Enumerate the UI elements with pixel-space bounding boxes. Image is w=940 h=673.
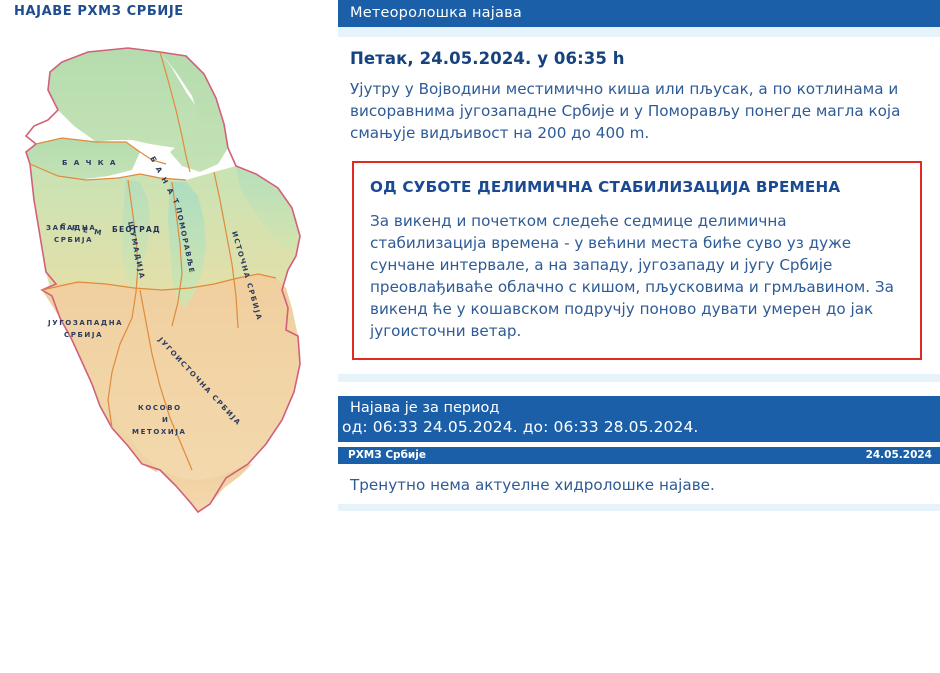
hydrology-status-text: Тренутно нема актуелне хидролошке најаве…	[338, 464, 940, 504]
page-title: НАЈАВЕ РХМЗ СРБИЈЕ	[14, 4, 184, 19]
map-label-zapadna-srbija-2: СРБИЈА	[54, 236, 93, 244]
map-label-backa: Б А Ч К А	[62, 158, 117, 167]
warning-text: За викенд и почетком следеће седмице дел…	[370, 210, 904, 342]
map-label-metohija: МЕТОХИЈА	[132, 428, 187, 436]
period-range: од: 06:33 24.05.2024. до: 06:33 28.05.20…	[338, 417, 940, 438]
divider-strip-3	[338, 504, 940, 511]
meteo-body-text: Ујутру у Војводини местимично киша или п…	[338, 78, 940, 158]
map-label-kosovo: КОСОВО	[138, 404, 182, 412]
map-label-kosovo-i: И	[162, 416, 169, 424]
rhmz-source-label: РХМЗ Србије	[348, 449, 426, 461]
rhmz-footer-bar: РХМЗ Србије 24.05.2024	[338, 447, 940, 464]
warning-title: ОД СУБОТЕ ДЕЛИМИЧНА СТАБИЛИЗАЦИЈА ВРЕМЕН…	[370, 177, 904, 198]
meteo-header-bar: Метеоролошка најава	[338, 0, 940, 27]
meteo-date: Петак, 24.05.2024. у 06:35 h	[338, 37, 940, 78]
period-title: Најава је за период	[338, 399, 940, 417]
serbia-map-panel: Б А Ч К А Б А Н А Т С Р Е М БЕОГРАД ЗАПА…	[0, 40, 334, 520]
rhmz-date-label: 24.05.2024	[866, 449, 932, 461]
map-label-jugozapadna-srbija-2: СРБИЈА	[64, 331, 103, 339]
weather-warning-box: ОД СУБОТЕ ДЕЛИМИЧНА СТАБИЛИЗАЦИЈА ВРЕМЕН…	[352, 161, 922, 360]
serbia-regions-map: Б А Ч К А Б А Н А Т С Р Е М БЕОГРАД ЗАПА…	[0, 40, 334, 520]
map-label-jugozapadna-srbija-1: ЈУГОЗАПАДНА	[47, 319, 123, 327]
period-block: Најава је за период од: 06:33 24.05.2024…	[338, 396, 940, 442]
announcements-content-panel: Метеоролошка најава Петак, 24.05.2024. у…	[338, 0, 940, 673]
divider-strip-1	[338, 27, 940, 37]
divider-strip-2	[338, 374, 940, 382]
map-label-zapadna-srbija-1: ЗАПАДНА	[46, 224, 96, 232]
